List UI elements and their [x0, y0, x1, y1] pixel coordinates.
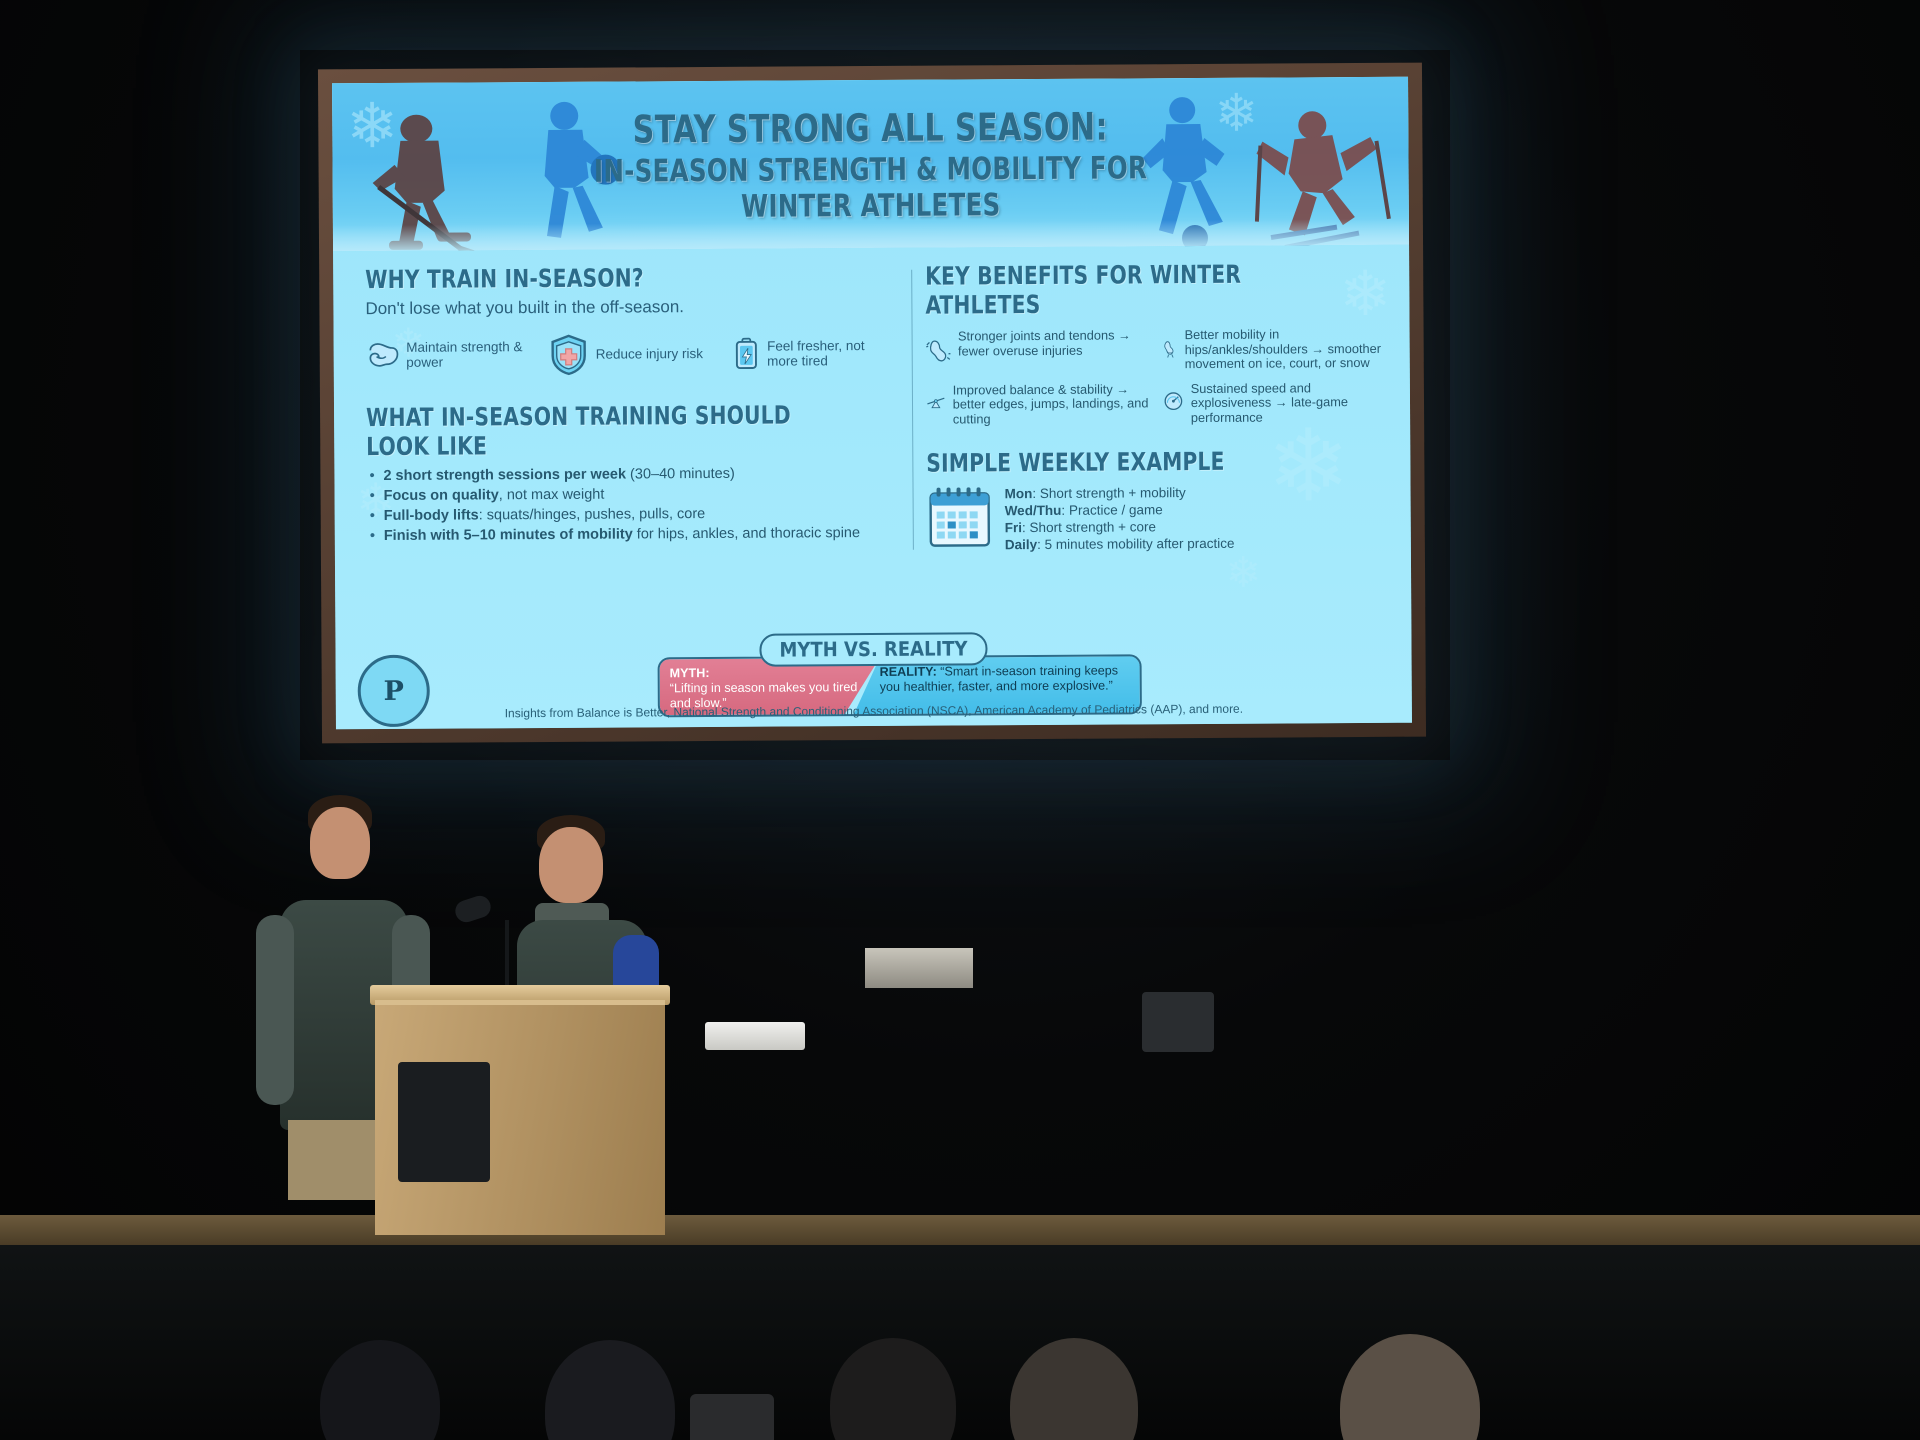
weekly-example-lines: Mon: Short strength + mobility Wed/Thu: …	[1005, 484, 1235, 553]
cardboard-box	[865, 948, 973, 988]
weekly-day: Fri	[1005, 521, 1022, 536]
weekly-text: : 5 minutes mobility after practice	[1037, 536, 1234, 552]
photo-scene: ❄ ❄ ❄ ❄ ❄ ❄ ❄ ❄	[0, 0, 1920, 1440]
bicep-icon	[366, 335, 399, 375]
skier-silhouette	[1254, 101, 1395, 251]
bullet-bold: 2 short strength sessions per week	[383, 467, 626, 484]
loudspeaker	[1142, 992, 1214, 1052]
benefit-sustained-speed: Sustained speed and explosiveness → late…	[1163, 381, 1386, 426]
bullet-rest: (30–40 minutes)	[626, 466, 735, 483]
weekly-line: Fri: Short strength + core	[1005, 518, 1235, 536]
weekly-day: Mon	[1005, 486, 1033, 501]
slide-canvas: ❄ ❄ ❄ ❄ ❄ ❄ ❄ ❄	[332, 77, 1412, 730]
benefit-reduce-injury: Reduce injury risk	[550, 333, 712, 376]
shield-plus-icon	[550, 334, 588, 376]
bullet-bold: Finish with 5–10 minutes of mobility	[384, 527, 633, 545]
slide-title-line-2: IN-SEASON STRENGTH & MOBILITY FOR WINTER…	[536, 150, 1205, 226]
column-divider	[911, 270, 914, 550]
benefit-feel-fresher: Feel fresher, not more tired	[734, 332, 896, 375]
weekly-text: : Practice / game	[1061, 503, 1162, 519]
head	[539, 827, 603, 903]
weekly-text: : Short strength + core	[1022, 520, 1156, 536]
speedometer-icon	[1163, 382, 1184, 420]
benefit-maintain-strength: Maintain strength & power	[366, 334, 528, 375]
weekly-text: : Short strength + mobility	[1032, 486, 1186, 502]
logo-mark: P	[383, 675, 404, 706]
benefit-stronger-joints: Stronger joints and tendons → fewer over…	[926, 328, 1149, 373]
benefit-text: Stronger joints and tendons → fewer over…	[958, 328, 1149, 358]
key-benefits-heading: KEY BENEFITS FOR WINTER ATHLETES	[925, 259, 1339, 320]
weekly-example-heading: SIMPLE WEEKLY EXAMPLE	[926, 447, 1340, 479]
key-benefits-grid: Stronger joints and tendons → fewer over…	[926, 327, 1387, 427]
myth-label: MYTH:	[670, 666, 710, 680]
benefit-caption: Maintain strength & power	[406, 339, 528, 370]
weekly-day: Daily	[1005, 537, 1037, 552]
bullet-rest: for hips, ankles, and thoracic spine	[633, 525, 860, 542]
projection-screen: ❄ ❄ ❄ ❄ ❄ ❄ ❄ ❄	[332, 77, 1412, 730]
floor-monitor-speaker	[398, 1062, 490, 1182]
list-item: Finish with 5–10 minutes of mobility for…	[367, 524, 897, 546]
bullet-rest: : squats/hinges, pushes, pulls, core	[479, 506, 706, 523]
benefit-text: Better mobility in hips/ankles/shoulders…	[1185, 327, 1386, 372]
why-train-subtitle: Don't lose what you built in the off-sea…	[365, 296, 895, 319]
why-train-icon-row: Maintain strength & power Reduce injury …	[366, 332, 896, 377]
list-item: Full-body lifts: squats/hinges, pushes, …	[367, 504, 897, 526]
slide-hero-banner: ❄ ❄	[332, 77, 1409, 252]
list-item: Focus on quality, not max weight	[367, 484, 897, 506]
slide-body: WHY TRAIN IN-SEASON? Don't lose what you…	[333, 245, 1412, 730]
projection-screen-frame: ❄ ❄ ❄ ❄ ❄ ❄ ❄ ❄	[318, 63, 1426, 744]
sleeve	[256, 915, 294, 1105]
what-training-bullets: 2 short strength sessions per week (30–4…	[366, 464, 896, 547]
bullet-rest: , not max weight	[499, 487, 605, 504]
list-item: 2 short strength sessions per week (30–4…	[366, 464, 896, 486]
calendar-icon	[927, 486, 993, 550]
knee-joint-icon	[1163, 328, 1178, 370]
myth-vs-reality-pill: MYTH VS. REALITY	[759, 632, 987, 666]
benefit-text: Sustained speed and explosiveness → late…	[1191, 381, 1386, 426]
bullet-bold: Focus on quality	[384, 487, 499, 504]
weekly-line: Wed/Thu: Practice / game	[1005, 501, 1235, 519]
balance-scale-icon	[926, 383, 946, 417]
what-training-heading: WHAT IN-SEASON TRAINING SHOULD LOOK LIKE	[366, 400, 843, 461]
stage-wood-rail	[0, 1215, 1920, 1245]
benefit-caption: Reduce injury risk	[596, 346, 703, 362]
benefit-better-mobility: Better mobility in hips/ankles/shoulders…	[1163, 327, 1386, 372]
weekly-day: Wed/Thu	[1005, 503, 1062, 518]
right-column: KEY BENEFITS FOR WINTER ATHLETES Stronge…	[925, 259, 1387, 554]
benefit-text: Improved balance & stability → better ed…	[953, 382, 1149, 427]
weekly-line: Daily: 5 minutes mobility after practice	[1005, 535, 1235, 553]
weekly-example-block: Mon: Short strength + mobility Wed/Thu: …	[927, 483, 1387, 554]
left-column: WHY TRAIN IN-SEASON? Don't lose what you…	[365, 262, 897, 548]
reality-label: REALITY:	[880, 665, 937, 679]
why-train-heading: WHY TRAIN IN-SEASON?	[365, 262, 842, 294]
joint-impact-icon	[926, 330, 952, 372]
weekly-line: Mon: Short strength + mobility	[1005, 484, 1235, 502]
benefit-caption: Feel fresher, not more tired	[767, 338, 896, 369]
laptop	[705, 1022, 805, 1050]
bullet-bold: Full-body lifts	[384, 508, 479, 525]
slide-title-block: STAY STRONG ALL SEASON: IN-SEASON STRENG…	[490, 104, 1251, 227]
slide-title-line-1: STAY STRONG ALL SEASON:	[536, 104, 1205, 152]
head	[310, 807, 370, 879]
benefit-improved-balance: Improved balance & stability → better ed…	[926, 382, 1149, 427]
audience-head	[690, 1394, 774, 1440]
hockey-player-silhouette	[358, 106, 477, 251]
stage-floor	[0, 1245, 1920, 1440]
battery-bolt-icon	[734, 333, 760, 375]
